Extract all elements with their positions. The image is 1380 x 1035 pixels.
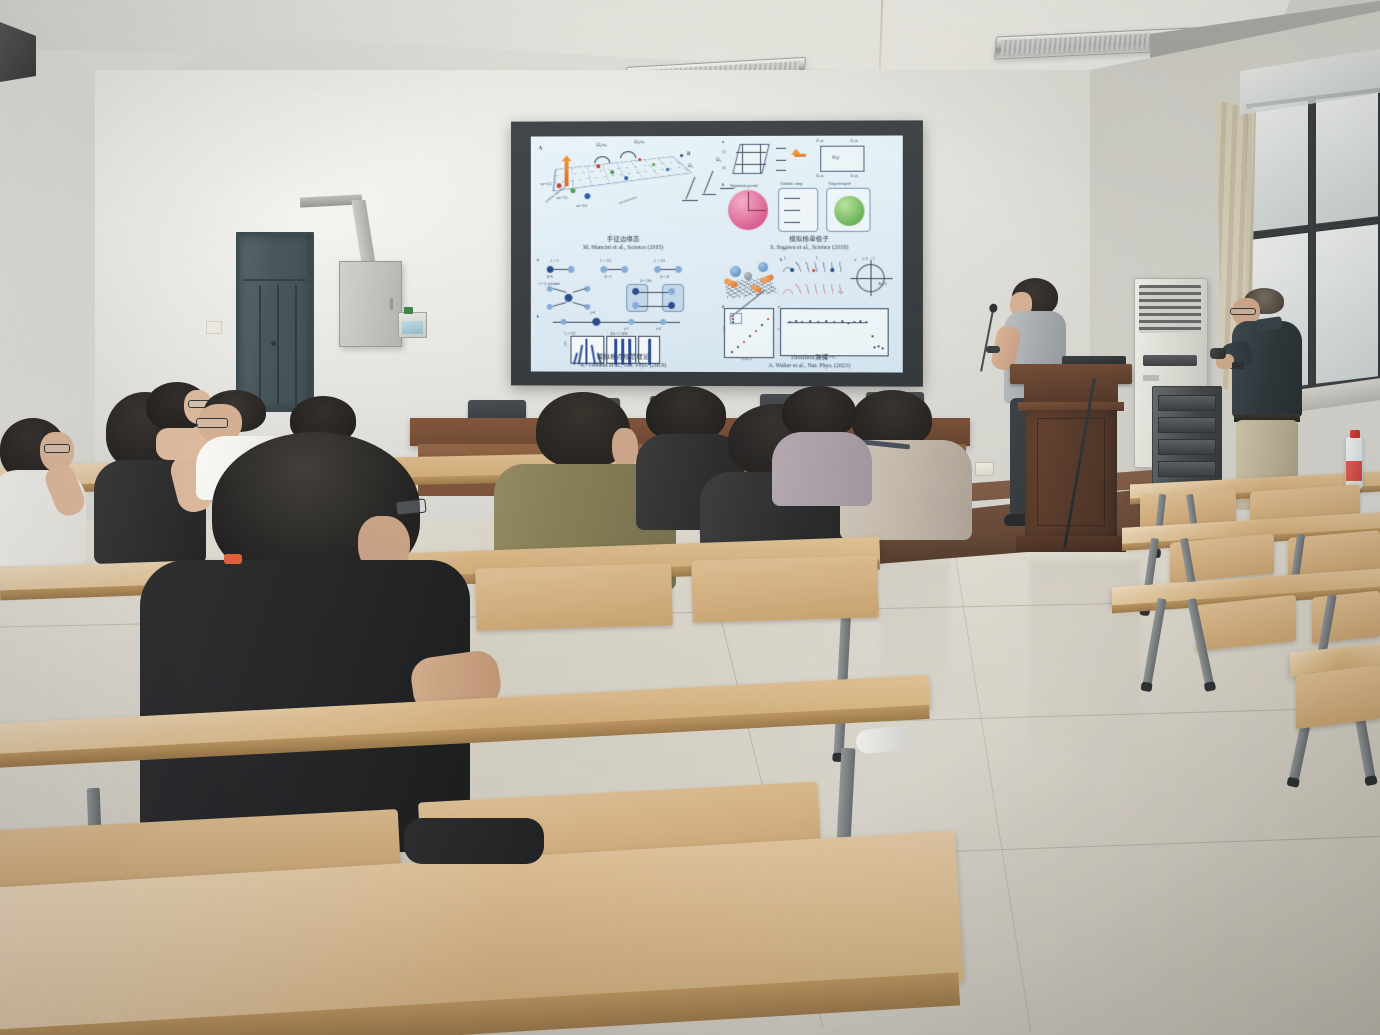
panel-reference: S. Sugawa et al., Science (2018) xyxy=(716,245,903,252)
bottle-cap xyxy=(1350,430,1360,438)
panel-caption: 模拟格点规范理论 xyxy=(531,354,716,361)
lectern xyxy=(1010,364,1132,554)
figure-synthetic-ladder: A Ω₁ei xyxy=(535,138,712,228)
ac-vent-icon xyxy=(1139,285,1201,333)
eyeglasses-icon xyxy=(44,444,70,453)
presentation-clicker[interactable] xyxy=(986,346,1000,353)
panel-reference: K. Viebahn et al., Nat. Phys. (2019) xyxy=(531,363,716,370)
rack-slot xyxy=(1158,417,1216,433)
figure-lattice-gauge: a J₀ = J Δ=0 J₁ = J/2 Δ = J xyxy=(535,256,712,346)
bottle-label xyxy=(1346,461,1362,481)
cabinet-latch-icon[interactable] xyxy=(390,298,393,310)
inset-pumped-charge-plot: Barrier, V/E_r Q xyxy=(780,308,889,356)
wall-electrical-cabinet[interactable] xyxy=(339,261,402,347)
eyeglasses-icon xyxy=(1230,308,1256,315)
projection-screen[interactable]: A Ω₁ei xyxy=(511,120,923,386)
door-panel-line xyxy=(243,279,307,281)
ear-neck xyxy=(612,428,638,468)
panel-reference: A. Walter et al., Nat. Phys. (2023) xyxy=(716,363,903,370)
lecture-room-photo: A Ω₁ei xyxy=(0,0,1380,1035)
lectern-top xyxy=(1010,364,1132,384)
man-dark-foreground xyxy=(140,432,520,852)
panel-caption: 手征边缘态 xyxy=(531,236,716,243)
hair xyxy=(782,386,856,438)
lectern-body xyxy=(1025,410,1117,540)
slide-panel-bottom-left: a J₀ = J Δ=0 J₁ = J/2 Δ = J xyxy=(531,254,716,372)
fixed-bench-seat[interactable] xyxy=(1296,665,1380,729)
assistant-polo-shirt xyxy=(1232,321,1302,417)
man-grey-shirt-right xyxy=(772,386,872,506)
window-mullion xyxy=(1308,96,1315,397)
window-pane xyxy=(1316,224,1378,384)
door-knob-icon[interactable] xyxy=(271,341,276,346)
ac-brand-label xyxy=(1143,375,1159,381)
panel-reference: M. Mancini et al., Science (2015) xyxy=(531,245,716,252)
status-led-icon xyxy=(404,307,413,314)
inset-linear-fit-plot: Cycles, n ⟨x⟩/d xyxy=(724,308,774,358)
grey-shirt xyxy=(772,432,872,506)
ac-display xyxy=(1143,355,1197,366)
power-outlet[interactable] xyxy=(975,462,994,476)
figure-thouless-pump: b J₁ J₂ λ_s c J₂/J₁ > 1 xyxy=(720,256,899,346)
seated-leg xyxy=(404,818,544,864)
light-switch-plate[interactable] xyxy=(206,321,222,334)
slide-panel-top-right: a |1⟩ |2⟩ Ĥ(q) Ω₁,φ₁ xyxy=(716,135,903,254)
panel-caption: Thouless泵浦 xyxy=(716,354,903,362)
lectern-neck xyxy=(1024,382,1118,404)
rack-slot xyxy=(1158,439,1216,455)
rack-slot xyxy=(1158,461,1216,477)
slide-content: A Ω₁ei xyxy=(531,135,903,372)
classroom-door[interactable] xyxy=(236,232,314,412)
red-clip xyxy=(224,554,242,564)
control-screen xyxy=(402,321,423,334)
fixed-bench-seat[interactable] xyxy=(691,555,879,622)
eyeglasses-icon xyxy=(196,418,228,428)
slide-panel-top-left: A Ω₁ei xyxy=(531,136,716,254)
wristwatch xyxy=(1232,362,1244,369)
eyeglasses-icon xyxy=(395,498,426,515)
window-pane xyxy=(1252,100,1310,231)
woman-white-top-glasses xyxy=(0,418,102,578)
water-bottle[interactable] xyxy=(1345,436,1363,490)
panel-caption: 模拟杨单极子 xyxy=(716,236,903,243)
window-pane xyxy=(1316,92,1378,224)
lectern-base xyxy=(1016,536,1126,552)
rack-slot xyxy=(1158,395,1216,411)
handheld-microphone[interactable] xyxy=(1210,348,1226,359)
figure-yang-monopole: a |1⟩ |2⟩ Ĥ(q) Ω₁,φ₁ xyxy=(720,138,899,228)
panel-control-display[interactable] xyxy=(398,312,427,338)
slide-panel-bottom-right: b J₁ J₂ λ_s c J₂/J₁ > 1 xyxy=(716,254,903,373)
